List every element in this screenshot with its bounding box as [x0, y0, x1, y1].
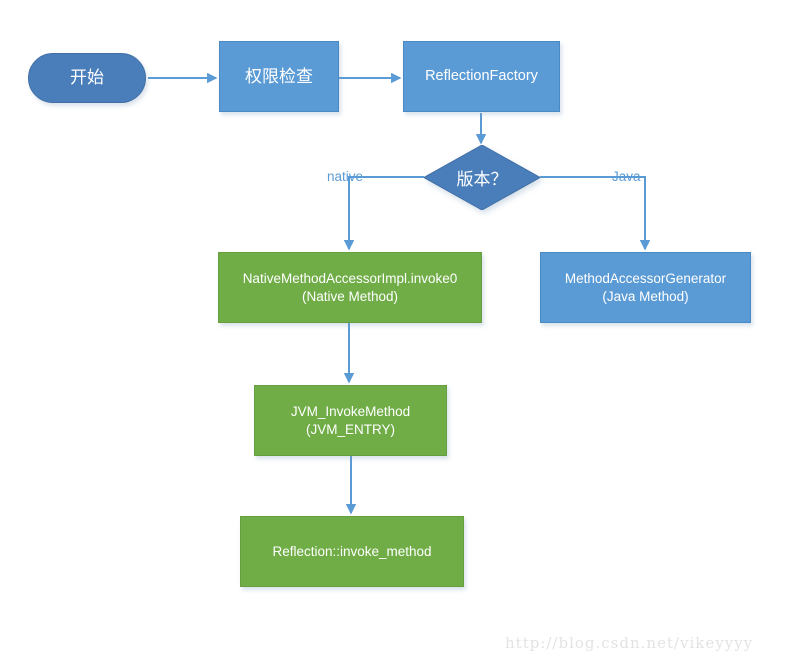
- node-start[interactable]: 开始: [28, 53, 146, 103]
- edge-label-java: Java: [612, 169, 641, 184]
- node-reflection-factory[interactable]: ReflectionFactory: [403, 41, 560, 112]
- node-native-method-accessor-impl-sublabel: (Native Method): [223, 288, 477, 305]
- node-native-method-accessor-impl-label: NativeMethodAccessorImpl.invoke0: [223, 270, 477, 287]
- node-reflection-invoke-method-label: Reflection::invoke_method: [245, 543, 459, 560]
- edge-version-native: [349, 177, 424, 249]
- node-version-decision[interactable]: 版本？: [424, 145, 540, 210]
- node-jvm-invoke-method[interactable]: JVM_InvokeMethod (JVM_ENTRY): [254, 385, 447, 456]
- node-native-method-accessor-impl[interactable]: NativeMethodAccessorImpl.invoke0 (Native…: [218, 252, 482, 323]
- node-method-accessor-generator-sublabel: (Java Method): [545, 288, 746, 305]
- flowchart-canvas: 开始 权限检查 ReflectionFactory 版本？ native Jav…: [0, 0, 806, 666]
- node-method-accessor-generator[interactable]: MethodAccessorGenerator (Java Method): [540, 252, 751, 323]
- node-method-accessor-generator-label: MethodAccessorGenerator: [545, 270, 746, 287]
- node-permission-check[interactable]: 权限检查: [219, 41, 339, 112]
- watermark-url: http://blog.csdn.net/vikeyyyy: [505, 634, 753, 652]
- node-jvm-invoke-method-label: JVM_InvokeMethod: [259, 403, 442, 420]
- edge-version-java: [540, 177, 645, 249]
- node-version-decision-label: 版本？: [424, 145, 540, 210]
- node-start-label: 开始: [33, 67, 141, 89]
- edge-label-native: native: [327, 169, 363, 184]
- node-permission-check-label: 权限检查: [224, 66, 334, 88]
- node-reflection-factory-label: ReflectionFactory: [408, 67, 555, 86]
- node-reflection-invoke-method[interactable]: Reflection::invoke_method: [240, 516, 464, 587]
- node-jvm-invoke-method-sublabel: (JVM_ENTRY): [259, 421, 442, 438]
